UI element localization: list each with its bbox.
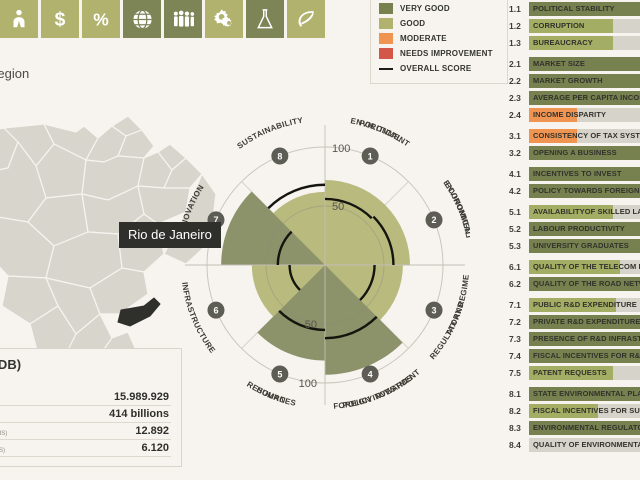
indicator-row[interactable]: 5.2LABOUR PRODUCTIVITY (508, 220, 640, 237)
indicator-bar-track: QUALITY OF THE ROAD NETWORK (529, 277, 640, 291)
radar-point-number: 2 (432, 215, 437, 225)
indicator-label: FISCAL INCENTIVES FOR SUSTAINABILITY (533, 404, 640, 418)
indicator-list: 1.1POLITICAL STABILITY1.2CORRUPTION1.3BU… (508, 0, 640, 453)
indicator-label: INCENTIVES TO INVEST (533, 167, 622, 181)
indicator-bar-track: POLICY TOWARDS FOREIGN CAPITAL (529, 184, 640, 198)
indicator-number: 7.5 (508, 368, 529, 378)
legend-color-swatch (379, 18, 393, 29)
toolbar-button-policy-towards-foreign-investment[interactable] (123, 0, 161, 38)
indicator-bar-track: INCOME DISPARITY (529, 108, 640, 122)
stat-value: 12.892 (56, 423, 171, 440)
indicator-bar-track: AVERAGE PER CAPITA INCOME (529, 91, 640, 105)
indicator-label: MARKET GROWTH (533, 74, 603, 88)
svg-text:%: % (93, 9, 109, 29)
indicator-number: 7.2 (508, 317, 529, 327)
map-title: e or Region (0, 66, 29, 81)
radar-category-label: INFRASTRUCTURE (180, 282, 217, 356)
indicator-bar-track: PRIVATE R&D EXPENDITURE (529, 315, 640, 329)
indicator-number: 5.2 (508, 224, 529, 234)
indicator-number: 8.1 (508, 389, 529, 399)
indicator-bar-track: PRESENCE OF R&D INFRASTRUCTURE (529, 332, 640, 346)
indicator-label: AVERAGE PER CAPITA INCOME (533, 91, 640, 105)
indicator-bar-track: QUALITY OF ENVIRONMENTAL (529, 438, 640, 452)
toolbar-button-sustainability[interactable] (287, 0, 325, 38)
indicator-label: QUALITY OF THE ROAD NETWORK (533, 277, 640, 291)
indicator-number: 8.2 (508, 406, 529, 416)
indicator-number: 7.4 (508, 351, 529, 361)
indicator-label: CORRUPTION (533, 19, 584, 33)
person-tie-icon (8, 8, 30, 30)
legend-item[interactable]: GOOD (379, 16, 499, 31)
radar-category-label: SUSTAINABILITY (235, 116, 304, 151)
indicator-bar-track: BUREAUCRACY (529, 36, 640, 50)
indicator-number: 7.3 (508, 334, 529, 344)
toolbar-button-political-environment[interactable] (0, 0, 38, 38)
region-stats-table: 15.989.929414 billionsINCOME (REAIS)12.8… (0, 389, 171, 457)
legend-item-label: OVERALL SCORE (400, 64, 471, 73)
indicator-number: 7.1 (508, 300, 529, 310)
indicator-number: 5.3 (508, 241, 529, 251)
chart-legend: VERY GOODGOODMODERATENEEDS IMPROVEMENTOV… (370, 0, 508, 84)
legend-item[interactable]: MODERATE (379, 31, 499, 46)
indicator-label: LABOUR PRODUCTIVITY (533, 222, 625, 236)
indicator-row[interactable]: 7.2PRIVATE R&D EXPENDITURE (508, 313, 640, 330)
stat-label (0, 389, 56, 406)
toolbar-button-economical-environment[interactable]: $ (41, 0, 79, 38)
indicator-row[interactable]: 1.1POLITICAL STABILITY (508, 0, 640, 17)
indicator-number: 2.2 (508, 76, 529, 86)
indicator-label: FISCAL INCENTIVES FOR R&D (533, 349, 640, 363)
indicator-bar-track: CORRUPTION (529, 19, 640, 33)
radar-tick-label: 100 (299, 378, 317, 390)
legend-line-swatch (379, 68, 393, 70)
radar-point-number: 1 (368, 151, 373, 161)
radar-point-number: 5 (277, 369, 282, 379)
legend-color-swatch (379, 33, 393, 44)
indicator-number: 2.4 (508, 110, 529, 120)
indicator-row[interactable]: 5.1AVAILABILITYOF SKILLED LABOUR (508, 203, 640, 220)
indicator-row[interactable]: 3.2OPENING A BUSINESS (508, 144, 640, 161)
legend-item[interactable]: NEEDS IMPROVEMENT (379, 46, 499, 61)
indicator-bar-track: MARKET SIZE (529, 57, 640, 71)
radar-point-number: 6 (213, 305, 218, 315)
indicator-label: QUALITY OF THE TELECOM NETWORK (533, 260, 640, 274)
indicator-row[interactable]: 1.2CORRUPTION (508, 17, 640, 34)
radar-tick-label: 100 (332, 143, 350, 155)
stat-row: NCOME (REAIS)6.120 (0, 440, 171, 457)
indicator-label: POLITICAL STABILITY (533, 2, 615, 16)
legend-item[interactable]: VERY GOOD (379, 1, 499, 16)
percent-icon: % (90, 8, 112, 30)
legend-color-swatch (379, 48, 393, 59)
governor-name: lho (PMDB) (0, 357, 171, 372)
category-toolbar: $% (0, 0, 328, 38)
indicator-row[interactable]: 2.2MARKET GROWTH (508, 72, 640, 89)
leaf-icon (295, 8, 317, 30)
radar-chart: 12345678POLITICALENVIRONMENTECONOMICALEN… (180, 110, 470, 440)
indicator-row[interactable]: 8.3ENVIRONMENTAL REGULATORY (508, 419, 640, 436)
indicator-row[interactable]: 2.1MARKET SIZE (508, 55, 640, 72)
indicator-label: POLICY TOWARDS FOREIGN CAPITAL (533, 184, 640, 198)
indicator-bar-track: STATE ENVIRONMENTAL PLAN (529, 387, 640, 401)
indicator-row[interactable]: 8.2FISCAL INCENTIVES FOR SUSTAINABILITY (508, 402, 640, 419)
indicator-label: ENVIRONMENTAL REGULATORY (533, 421, 640, 435)
indicator-label: MARKET SIZE (533, 57, 585, 71)
gears-icon (213, 8, 236, 30)
indicator-number: 6.2 (508, 279, 529, 289)
indicator-bar-track: QUALITY OF THE TELECOM NETWORK (529, 260, 640, 274)
indicator-bar-track: UNIVERSITY GRADUATES (529, 239, 640, 253)
radar-point-number: 4 (368, 369, 373, 379)
indicator-label: PUBLIC R&D EXPENDITURE (533, 298, 637, 312)
indicator-number: 5.1 (508, 207, 529, 217)
radar-point-number: 8 (277, 151, 282, 161)
legend-item-label: GOOD (400, 19, 425, 28)
indicator-number: 1.3 (508, 38, 529, 48)
indicator-bar-track: PATENT REQUESTS (529, 366, 640, 380)
toolbar-button-innovation[interactable] (246, 0, 284, 38)
radar-tick-label: 50 (332, 201, 344, 213)
indicator-bar-track: OPENING A BUSINESS (529, 146, 640, 160)
indicator-label: PATENT REQUESTS (533, 366, 607, 380)
svg-text:$: $ (55, 9, 66, 30)
indicator-number: 2.3 (508, 93, 529, 103)
indicator-label: PRIVATE R&D EXPENDITURE (533, 315, 640, 329)
toolbar-button-human-resources[interactable] (164, 0, 202, 38)
indicator-row[interactable]: 5.3UNIVERSITY GRADUATES (508, 237, 640, 254)
indicator-row[interactable]: 8.1STATE ENVIRONMENTAL PLAN (508, 385, 640, 402)
stat-value: 6.120 (56, 440, 171, 457)
radar-category-label: ENVIRONMENT (441, 179, 470, 241)
indicator-number: 3.2 (508, 148, 529, 158)
indicator-number: 4.1 (508, 169, 529, 179)
indicator-label: BUREAUCRACY (533, 36, 593, 50)
indicator-number: 1.2 (508, 21, 529, 31)
indicator-row[interactable]: 1.3BUREAUCRACY (508, 34, 640, 51)
dashboard-root: $% S e or Region (0, 0, 640, 480)
indicator-bar-track: FISCAL INCENTIVES FOR SUSTAINABILITY (529, 404, 640, 418)
indicator-bar-track: PUBLIC R&D EXPENDITURE (529, 298, 640, 312)
indicator-number: 8.3 (508, 423, 529, 433)
indicator-row[interactable]: 7.1PUBLIC R&D EXPENDITURE (508, 296, 640, 313)
indicator-label: OPENING A BUSINESS (533, 146, 617, 160)
indicator-bar-track: LABOUR PRODUCTIVITY (529, 222, 640, 236)
indicator-row[interactable]: 4.2POLICY TOWARDS FOREIGN CAPITAL (508, 182, 640, 199)
legend-item-label: MODERATE (400, 34, 447, 43)
stat-label: INCOME (REAIS) (0, 423, 56, 440)
indicator-number: 4.2 (508, 186, 529, 196)
indicator-row[interactable]: 3.1CONSISTENCY OF TAX SYSTEM (508, 127, 640, 144)
dollar-icon: $ (49, 8, 71, 30)
indicator-row[interactable]: 7.4FISCAL INCENTIVES FOR R&D (508, 347, 640, 364)
indicator-row[interactable]: 6.1QUALITY OF THE TELECOM NETWORK (508, 258, 640, 275)
legend-color-swatch (379, 3, 393, 14)
stat-row: INCOME (REAIS)12.892 (0, 423, 171, 440)
radar-point-number: 3 (432, 305, 437, 315)
indicator-label: UNIVERSITY GRADUATES (533, 239, 629, 253)
indicator-bar-track: MARKET GROWTH (529, 74, 640, 88)
stat-label: NCOME (REAIS) (0, 440, 56, 457)
indicator-label: STATE ENVIRONMENTAL PLAN (533, 387, 640, 401)
indicator-bar-track: INCENTIVES TO INVEST (529, 167, 640, 181)
region-tooltip: Rio de Janeiro (119, 222, 221, 248)
indicator-bar-track: FISCAL INCENTIVES FOR R&D (529, 349, 640, 363)
indicator-label: QUALITY OF ENVIRONMENTAL (533, 438, 640, 452)
stat-value: 414 billions (56, 406, 171, 423)
stat-label (0, 406, 56, 423)
indicator-bar-track: ENVIRONMENTAL REGULATORY (529, 421, 640, 435)
people-icon (172, 9, 195, 29)
indicator-label: PRESENCE OF R&D INFRASTRUCTURE (533, 332, 640, 346)
indicator-row[interactable]: 6.2QUALITY OF THE ROAD NETWORK (508, 275, 640, 292)
indicator-number: 8.4 (508, 440, 529, 450)
indicator-label: CONSISTENCY OF TAX SYSTEM (533, 129, 640, 143)
legend-item-label: NEEDS IMPROVEMENT (400, 49, 493, 58)
indicator-bar-track: CONSISTENCY OF TAX SYSTEM (529, 129, 640, 143)
governor-term: 010) (0, 373, 171, 384)
indicator-number: 3.1 (508, 131, 529, 141)
indicator-label: INCOME DISPARITY (533, 108, 606, 122)
stat-row: 15.989.929 (0, 389, 171, 406)
indicator-row[interactable]: 7.5PATENT REQUESTS (508, 364, 640, 381)
legend-item[interactable]: OVERALL SCORE (379, 61, 499, 76)
indicator-label: AVAILABILITYOF SKILLED LABOUR (533, 205, 640, 219)
indicator-number: 2.1 (508, 59, 529, 69)
indicator-number: 1.1 (508, 4, 529, 14)
toolbar-button-tax-and-regulatory-regime[interactable]: % (82, 0, 120, 38)
indicator-row[interactable]: 4.1INCENTIVES TO INVEST (508, 165, 640, 182)
flask-icon (255, 8, 275, 30)
region-info-box: lho (PMDB) 010) 15.989.929414 billionsIN… (0, 348, 182, 467)
indicator-row[interactable]: 8.4QUALITY OF ENVIRONMENTAL (508, 436, 640, 453)
indicator-row[interactable]: 2.4INCOME DISPARITY (508, 106, 640, 123)
indicator-bar-track: POLITICAL STABILITY (529, 2, 640, 16)
indicator-row[interactable]: 2.3AVERAGE PER CAPITA INCOME (508, 89, 640, 106)
indicator-bar-track: AVAILABILITYOF SKILLED LABOUR (529, 205, 640, 219)
indicator-row[interactable]: 7.3PRESENCE OF R&D INFRASTRUCTURE (508, 330, 640, 347)
radar-category-label: ENVIRONMENT (350, 116, 412, 148)
legend-item-label: VERY GOOD (400, 4, 450, 13)
toolbar-button-infrastructure[interactable] (205, 0, 243, 38)
radar-tick-label: 50 (305, 319, 317, 331)
stat-row: 414 billions (0, 406, 171, 423)
stat-value: 15.989.929 (56, 389, 171, 406)
radar-category-label: RESOURCES (245, 380, 297, 408)
indicator-number: 6.1 (508, 262, 529, 272)
globe-icon (131, 8, 154, 31)
